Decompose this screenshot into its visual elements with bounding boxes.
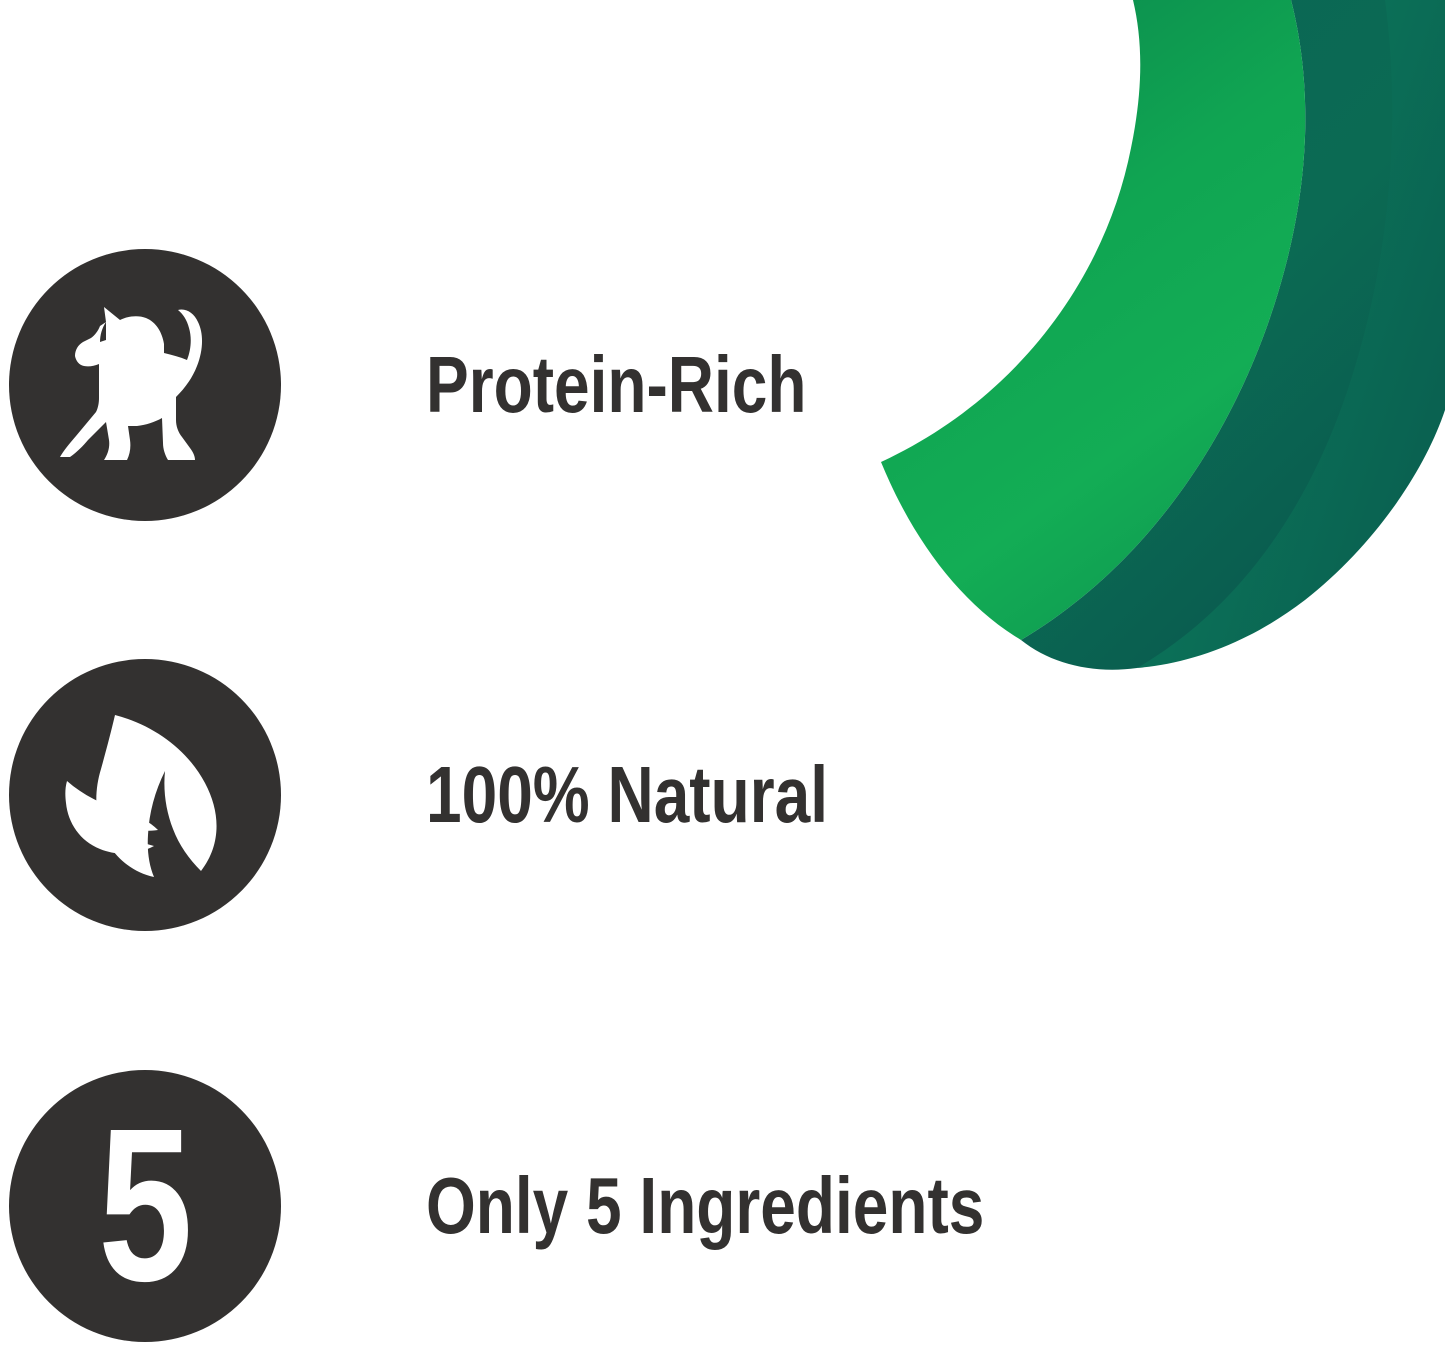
feature-row-protein-rich: Protein-Rich bbox=[0, 232, 1445, 538]
feature-row-ingredients: 5 Only 5 Ingredients bbox=[0, 1053, 1445, 1359]
badge-ingredients: 5 bbox=[9, 1070, 281, 1342]
feature-highlights-panel: Protein-Rich 100% Natural 5 Only 5 Ingre… bbox=[0, 0, 1445, 1359]
number-5-icon: 5 bbox=[98, 1121, 191, 1291]
feature-row-natural: 100% Natural bbox=[0, 642, 1445, 948]
feature-label-protein-rich: Protein-Rich bbox=[426, 345, 806, 425]
leaf-icon bbox=[49, 699, 241, 891]
badge-natural bbox=[9, 659, 281, 931]
feature-label-ingredients: Only 5 Ingredients bbox=[426, 1166, 984, 1246]
feature-label-natural: 100% Natural bbox=[426, 755, 828, 835]
cat-icon bbox=[56, 302, 234, 468]
badge-protein-rich bbox=[9, 249, 281, 521]
